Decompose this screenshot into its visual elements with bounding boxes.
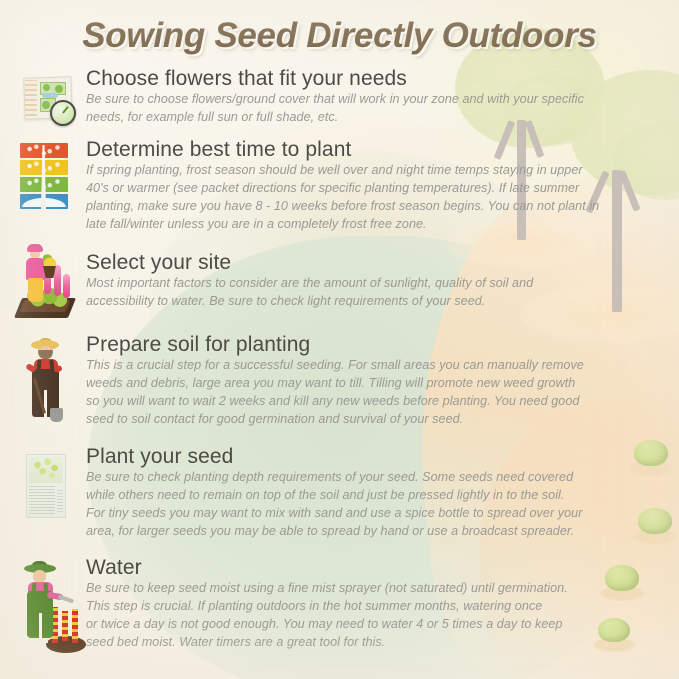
background-shrub-3: [600, 565, 644, 601]
body-line: while others need to remain on top of th…: [86, 487, 582, 505]
section-heading: Water: [86, 557, 568, 579]
body-line: late fall/winter unless you are in a com…: [86, 216, 599, 234]
body-line: seed bed moist. Water timers are a great…: [86, 634, 568, 652]
infographic-poster: Sowing Seed Directly Outdoors Choose flo…: [0, 0, 679, 679]
section-body: This is a crucial step for a successful …: [86, 357, 584, 429]
seed-packet-icon: [20, 450, 72, 522]
body-line: so you will want to wait 2 weeks and kil…: [86, 393, 584, 411]
body-line: This is a crucial step for a successful …: [86, 357, 584, 375]
body-line: planting, make sure you have 8 - 10 week…: [86, 198, 599, 216]
body-line: 40's or warmer (see packet directions fo…: [86, 180, 599, 198]
background-shrub-2: [633, 508, 677, 544]
background-shrub-4: [593, 618, 635, 652]
page-title: Sowing Seed Directly Outdoors: [0, 16, 679, 56]
section-heading: Plant your seed: [86, 446, 582, 468]
section-body: Be sure to check planting depth requirem…: [86, 469, 582, 541]
body-line: Be sure to choose flowers/ground cover t…: [86, 91, 584, 109]
section-heading: Prepare soil for planting: [86, 334, 584, 356]
section-body: If spring planting, frost season should …: [86, 162, 599, 234]
section-text: Prepare soil for planting This is a cruc…: [86, 334, 584, 429]
body-line: This step is crucial. If planting outdoo…: [86, 598, 568, 616]
section-text: Select your site Most important factors …: [86, 252, 533, 311]
body-line: Most important factors to consider are t…: [86, 275, 533, 293]
body-line: seed to soil contact for good germinatio…: [86, 411, 584, 429]
section-text: Determine best time to plant If spring p…: [86, 139, 599, 234]
section-heading: Determine best time to plant: [86, 139, 599, 161]
section-heading: Select your site: [86, 252, 533, 274]
body-line: Be sure to keep seed moist using a fine …: [86, 580, 568, 598]
background-shrub-1: [629, 440, 673, 476]
gardener-with-shovel-icon: [18, 338, 76, 424]
body-line: or twice a day is not good enough. You m…: [86, 616, 568, 634]
section-body: Be sure to choose flowers/ground cover t…: [86, 91, 584, 127]
body-line: For tiny seeds you may want to mix with …: [86, 505, 582, 523]
section-heading: Choose flowers that fit your needs: [86, 68, 584, 90]
section-text: Water Be sure to keep seed moist using a…: [86, 557, 568, 652]
body-line: area, for larger seeds you may be able t…: [86, 523, 582, 541]
section-text: Choose flowers that fit your needs Be su…: [86, 68, 584, 127]
garden-plan-compass-icon: [20, 74, 76, 126]
body-line: If spring planting, frost season should …: [86, 162, 599, 180]
body-line: needs, for example full sun or full shad…: [86, 109, 584, 127]
gardener-watering-icon: [14, 561, 86, 653]
section-body: Most important factors to consider are t…: [86, 275, 533, 311]
body-line: weeds and debris, large area you may wan…: [86, 375, 584, 393]
section-text: Plant your seed Be sure to check plantin…: [86, 446, 582, 541]
gardener-with-flowers-icon: [14, 240, 76, 318]
section-body: Be sure to keep seed moist using a fine …: [86, 580, 568, 652]
body-line: accessibility to water. Be sure to check…: [86, 293, 533, 311]
four-seasons-icon: [20, 143, 72, 213]
body-line: Be sure to check planting depth requirem…: [86, 469, 582, 487]
